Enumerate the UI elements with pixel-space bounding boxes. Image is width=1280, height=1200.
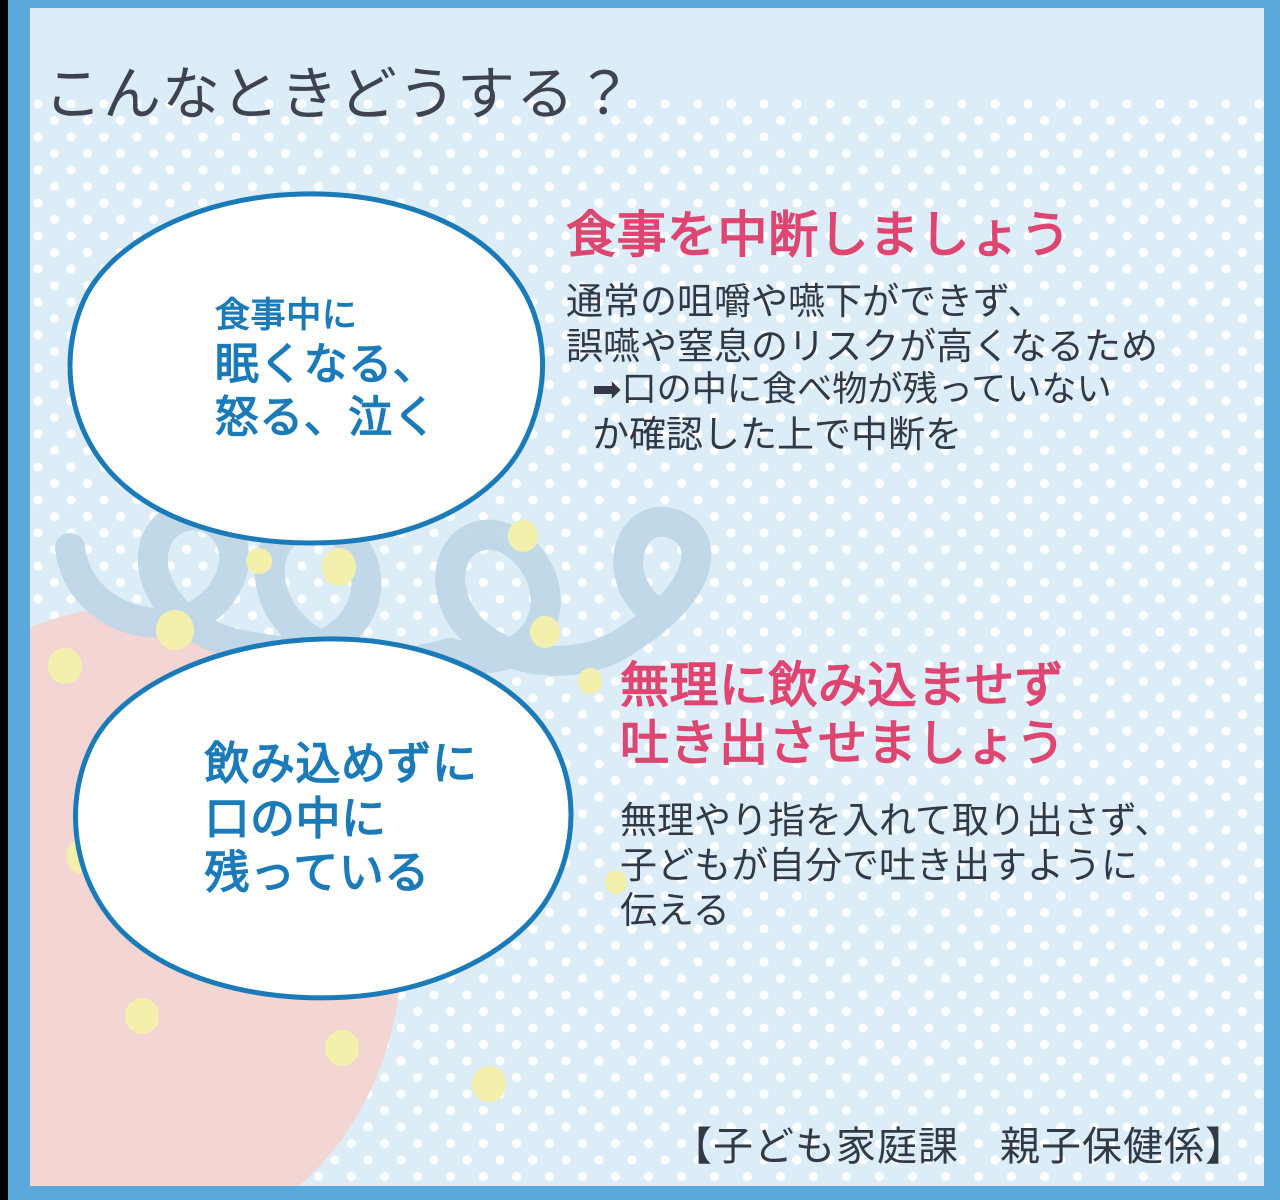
poster-canvas: こんなときどうする？ 食事中に 眠くなる、 怒る、泣く 食事を中断しましょう 通… — [30, 8, 1264, 1186]
bubble-1-line-2: 眠くなる、 — [215, 340, 438, 389]
yellow-dot-decoration — [246, 548, 272, 574]
speech-bubble-2-text: 飲み込めずに 口の中に 残っている — [204, 737, 477, 902]
speech-bubble-2: 飲み込めずに 口の中に 残っている — [58, 633, 588, 1003]
body-1-line-2: 誤嚥や窒息のリスクが高くなるため — [566, 324, 1264, 369]
body-text-2: 無理やり指を入れて取り出さず、 子どもが自分で吐き出すように 伝える — [620, 798, 1264, 933]
body-2-line-3: 伝える — [620, 888, 1264, 933]
yellow-dot-decoration — [125, 998, 159, 1034]
headline-2: 無理に飲み込ませず 吐き出させましょう — [620, 658, 1264, 774]
headline-2-line-2: 吐き出させましょう — [620, 716, 1264, 774]
bubble-2-line-2: 口の中に — [204, 793, 386, 844]
poster-root: こんなときどうする？ 食事中に 眠くなる、 怒る、泣く 食事を中断しましょう 通… — [0, 0, 1280, 1200]
content-block-1: 食事を中断しましょう 通常の咀嚼や嚥下ができず、 誤嚥や窒息のリスクが高くなるた… — [566, 206, 1264, 457]
bubble-2-line-3: 残っている — [204, 847, 429, 898]
yellow-dot-decoration — [322, 548, 356, 586]
footer-department: 【子ども家庭課 親子保健係】 — [672, 1114, 1246, 1172]
headline-1: 食事を中断しましょう — [566, 206, 1264, 265]
yellow-dot-decoration — [325, 1030, 359, 1066]
body-text-1: 通常の咀嚼や嚥下ができず、 誤嚥や窒息のリスクが高くなるため ➡口の中に食べ物が… — [566, 279, 1264, 457]
yellow-dot-decoration — [472, 1066, 506, 1102]
body-1-line-4: か確認した上で中断を — [566, 412, 1264, 457]
page-title: こんなときどうする？ — [44, 57, 634, 133]
body-1-line-3: ➡口の中に食べ物が残っていない — [566, 369, 1264, 412]
bubble-1-line-3: 怒る、泣く — [215, 393, 438, 442]
speech-bubble-1: 食事中に 眠くなる、 怒る、泣く — [52, 188, 552, 548]
bubble-1-line-1: 食事中に — [215, 295, 438, 338]
body-2-line-2: 子どもが自分で吐き出すように — [620, 843, 1264, 888]
speech-bubble-1-text: 食事中に 眠くなる、 怒る、泣く — [215, 295, 438, 445]
bubble-2-line-1: 飲み込めずに — [204, 738, 477, 789]
body-2-line-1: 無理やり指を入れて取り出さず、 — [620, 798, 1264, 843]
content-block-2: 無理に飲み込ませず 吐き出させましょう 無理やり指を入れて取り出さず、 子どもが… — [620, 658, 1264, 933]
body-1-line-1: 通常の咀嚼や嚥下ができず、 — [566, 279, 1264, 324]
headline-2-line-1: 無理に飲み込ませず — [620, 658, 1264, 716]
